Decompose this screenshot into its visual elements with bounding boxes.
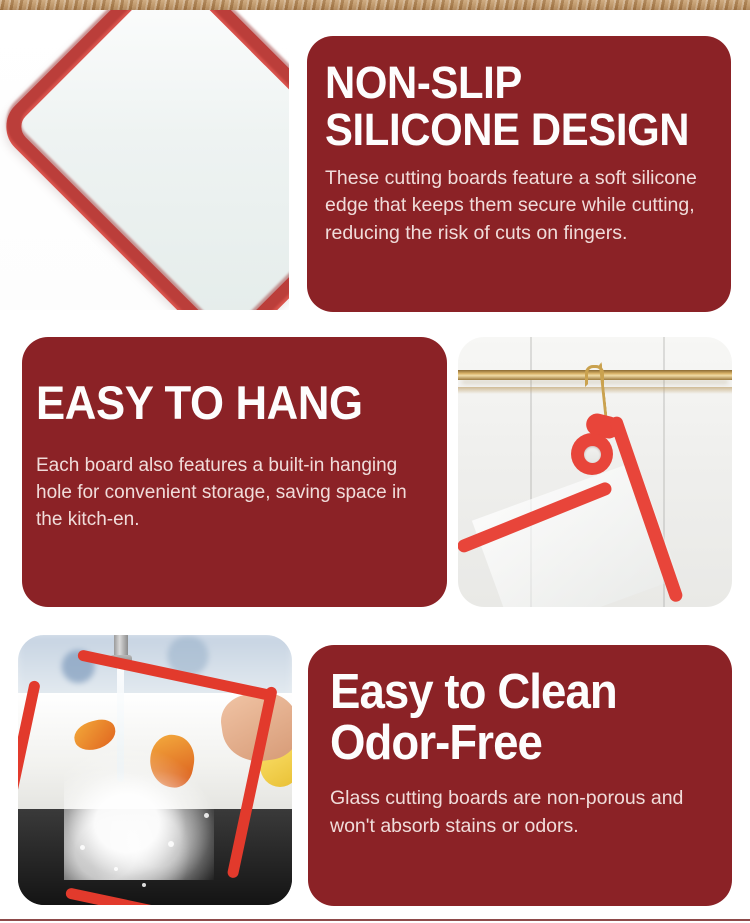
card-heading-line2: SILICONE DESIGN xyxy=(325,107,686,154)
board-silicone-edge xyxy=(0,10,289,310)
card-heading-line1: EASY TO HANG xyxy=(36,379,400,428)
card-body-text: These cutting boards feature a soft sili… xyxy=(325,165,713,248)
wood-texture-strip xyxy=(0,0,750,10)
feature-card-non-slip: NON-SLIP SILICONE DESIGN These cutting b… xyxy=(307,36,731,312)
water-splash xyxy=(64,745,214,880)
product-photo-hanging-board xyxy=(458,337,732,607)
card-heading-line2: Odor-Free xyxy=(330,718,685,769)
feature-card-easy-to-clean: Easy to Clean Odor-Free Glass cutting bo… xyxy=(308,645,732,906)
water-droplet xyxy=(114,867,118,871)
board-shape xyxy=(0,10,289,310)
water-droplet xyxy=(80,845,85,850)
infographic-page: NON-SLIP SILICONE DESIGN These cutting b… xyxy=(0,0,750,923)
card-heading-line1: Easy to Clean xyxy=(330,667,685,718)
bottom-divider xyxy=(0,919,750,921)
card-body-text: Glass cutting boards are non-porous and … xyxy=(330,785,712,840)
card-body-text: Each board also features a built-in hang… xyxy=(36,453,427,534)
product-photo-rinsing-board xyxy=(18,635,292,905)
water-droplet xyxy=(204,813,209,818)
water-droplet xyxy=(142,883,146,887)
hanging-hole xyxy=(584,446,601,463)
water-droplet xyxy=(168,841,174,847)
card-heading-line1: NON-SLIP xyxy=(325,60,686,107)
feature-card-easy-to-hang: EASY TO HANG Each board also features a … xyxy=(22,337,447,607)
product-photo-board-corner xyxy=(0,10,289,310)
